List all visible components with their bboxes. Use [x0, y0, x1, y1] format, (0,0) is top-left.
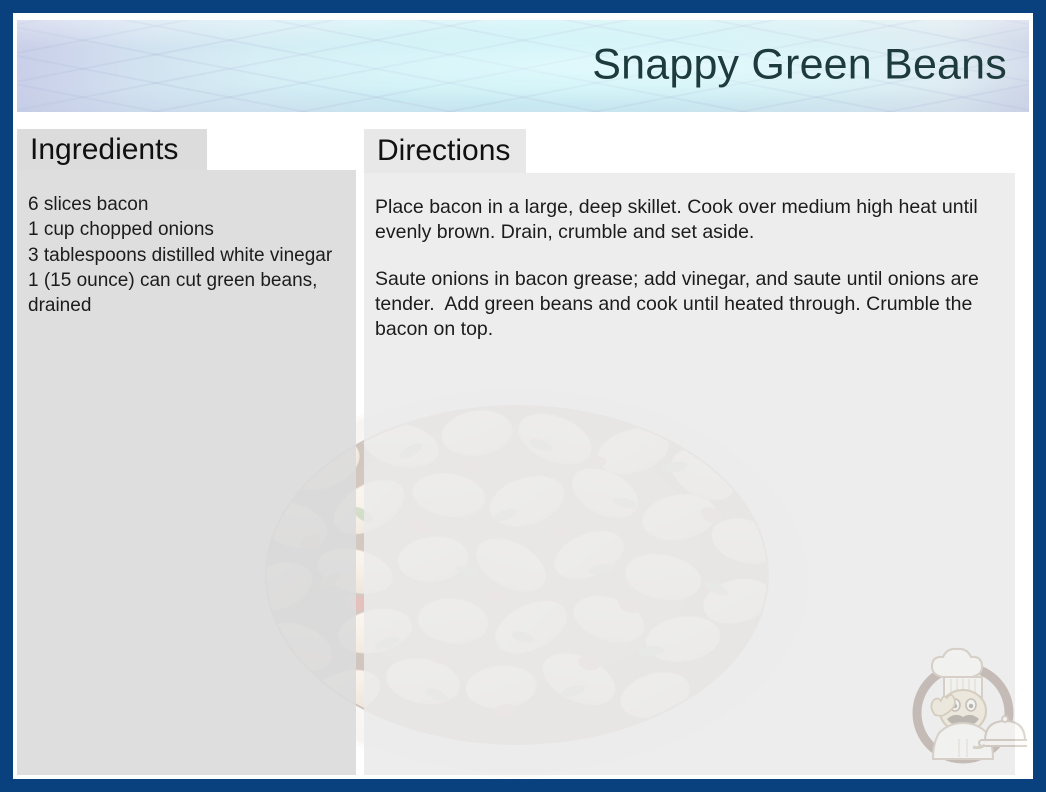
ingredients-panel: 6 slices bacon 1 cup chopped onions 3 ta…	[17, 170, 356, 775]
directions-tab[interactable]: Directions	[364, 129, 526, 173]
directions-heading: Directions	[377, 136, 510, 166]
ingredients-list: 6 slices bacon 1 cup chopped onions 3 ta…	[28, 192, 340, 318]
chef-logo-watermark	[899, 641, 1027, 769]
directions-paragraph: Place bacon in a large, deep skillet. Co…	[375, 195, 999, 246]
chef-with-cloche-icon	[899, 641, 1027, 769]
recipe-slide: Snappy Green Beans	[0, 0, 1046, 792]
header-banner: Snappy Green Beans	[17, 20, 1029, 112]
page-title: Snappy Green Beans	[592, 41, 1007, 90]
ingredients-tab[interactable]: Ingredients	[17, 129, 207, 170]
directions-paragraph: Saute onions in bacon grease; add vinega…	[375, 267, 999, 343]
recipe-card: Snappy Green Beans	[13, 13, 1033, 779]
ingredients-heading: Ingredients	[30, 135, 178, 165]
